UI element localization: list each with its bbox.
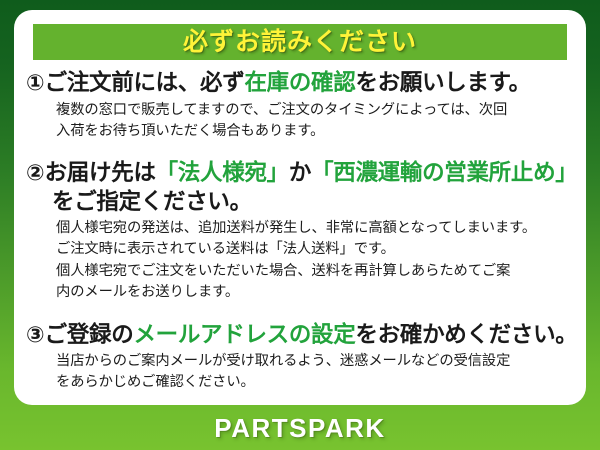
item-marker-2: ②: [26, 160, 45, 185]
notice-item-3: ③ご登録のメールアドレスの設定をお確かめください。 当店からのご案内メールが受け…: [14, 320, 586, 394]
item-2-heading-accent-2: 「西濃運輸の営業所止め」: [311, 160, 577, 185]
item-2-body-line-2: ご注文時に表示されている送料は「法人送料」です。: [56, 239, 576, 260]
notice-item-1-body: 複数の窓口で販売してますので、ご注文のタイミングによっては、次回 入荷をお待ち頂…: [26, 100, 576, 142]
item-marker-3: ③: [26, 322, 45, 347]
item-3-body-line-1: 当店からのご案内メールが受け取れるよう、迷惑メールなどの受信設定: [56, 351, 576, 372]
notice-item-2-body: 個人様宅宛の発送は、追加送料が発生し、非常に高額となってしまいます。 ご注文時に…: [26, 218, 576, 302]
item-marker-1: ①: [26, 70, 45, 95]
item-1-heading-part-3: をお願いします。: [355, 70, 530, 95]
notice-item-list: ①ご注文前には、必ず在庫の確認をお願いします。 複数の窓口で販売してますので、ご…: [14, 68, 586, 393]
item-1-heading-accent: 在庫の確認: [244, 70, 355, 95]
item-2-body-line-4: 内のメールをお送りします。: [56, 282, 576, 303]
notice-item-3-body: 当店からのご案内メールが受け取れるよう、迷惑メールなどの受信設定 をあらかじめご…: [26, 351, 576, 393]
title-bar: 必ずお読みください: [33, 24, 567, 60]
item-2-body-line-1: 個人様宅宛の発送は、追加送料が発生し、非常に高額となってしまいます。: [56, 218, 576, 239]
footer-band: PARTSPARK: [0, 405, 600, 450]
notice-item-2-heading: ②お届け先は「法人様宛」か「西濃運輸の営業所止め」: [26, 158, 576, 188]
page-title: 必ずお読みください: [183, 30, 417, 55]
notice-banner: 必ずお読みください ①ご注文前には、必ず在庫の確認をお願いします。 複数の窓口で…: [0, 0, 600, 450]
item-1-heading-part-1: ご注文前には、必ず: [45, 70, 245, 95]
item-2-body-line-3: 個人様宅宛でご注文をいただいた場合、送料を再計算しあらためてご案: [56, 261, 576, 282]
notice-item-1: ①ご注文前には、必ず在庫の確認をお願いします。 複数の窓口で販売してますので、ご…: [14, 68, 586, 142]
item-1-body-line-2: 入荷をお待ち頂いただく場合もあります。: [56, 121, 576, 142]
item-3-heading-accent: メールアドレスの設定: [133, 322, 355, 347]
item-3-body-line-2: をあらかじめご確認ください。: [56, 372, 576, 393]
notice-item-1-heading: ①ご注文前には、必ず在庫の確認をお願いします。: [26, 68, 576, 98]
item-2-heading-accent-1: 「法人様宛」: [156, 160, 289, 185]
item-1-body-line-1: 複数の窓口で販売してますので、ご注文のタイミングによっては、次回: [56, 100, 576, 121]
notice-item-2: ②お届け先は「法人様宛」か「西濃運輸の営業所止め」 をご指定ください。 個人様宅…: [14, 158, 586, 303]
notice-item-2-heading-line-2: をご指定ください。: [26, 187, 576, 216]
item-3-heading-part-3: をお確かめください。: [355, 322, 577, 347]
item-3-heading-part-1: ご登録の: [45, 322, 134, 347]
item-2-heading-part-3: か: [289, 160, 311, 185]
brand-logo-text: PARTSPARK: [214, 415, 385, 441]
notice-card: 必ずお読みください ①ご注文前には、必ず在庫の確認をお願いします。 複数の窓口で…: [14, 10, 586, 405]
item-2-heading-part-1: お届け先は: [45, 160, 156, 185]
notice-item-3-heading: ③ご登録のメールアドレスの設定をお確かめください。: [26, 320, 576, 350]
